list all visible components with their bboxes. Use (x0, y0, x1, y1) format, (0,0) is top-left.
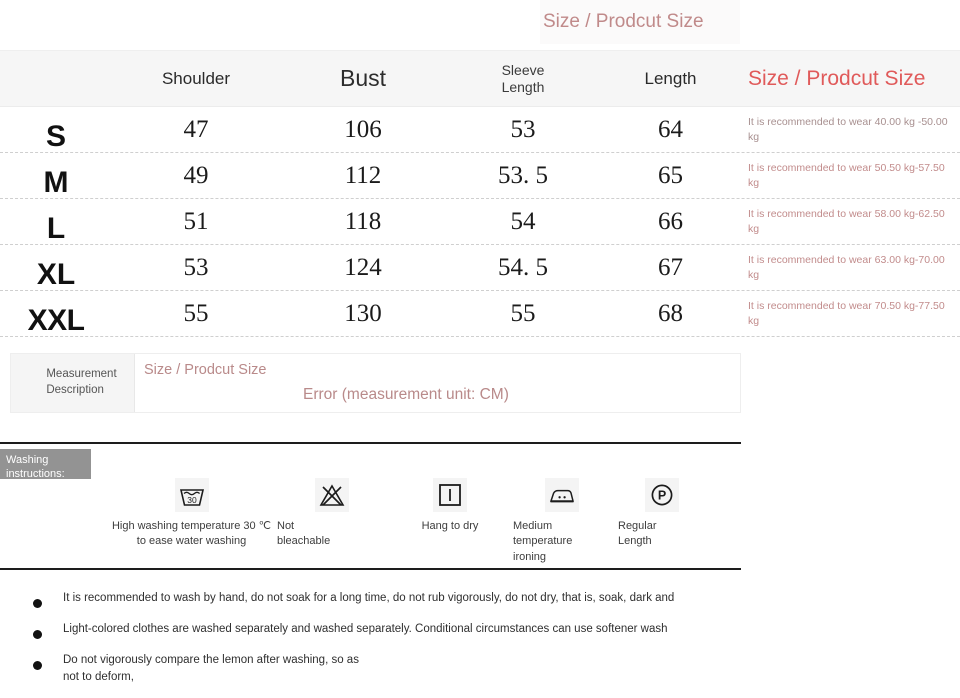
value-bust: 124 (344, 254, 382, 282)
value-length: 67 (658, 254, 683, 282)
iron-medium-temperature-icon (545, 478, 579, 512)
size-label: XL (37, 260, 75, 290)
value-shoulder: 53 (184, 254, 209, 282)
washing-notes-list: It is recommended to wash by hand, do no… (0, 590, 741, 685)
value-shoulder: 55 (184, 300, 209, 328)
value-sleeve: 54. 5 (498, 254, 548, 282)
cell-recommend: It is recommended to wear 70.50 kg-77.50… (741, 291, 960, 336)
care-symbol-strip: 30 High washing temperature 30 ℃ to ease… (110, 478, 710, 563)
measurement-error-note: Error (measurement unit: CM) (303, 386, 509, 404)
list-item: It is recommended to wash by hand, do no… (0, 590, 741, 621)
cell-shoulder: 51 (112, 199, 280, 244)
measurement-note-primary: Size / Prodcut Size (144, 362, 267, 378)
table-header-row: Shoulder Bust Sleeve Length Length Size … (0, 50, 960, 107)
no-bleach-triangle-icon (315, 478, 349, 512)
header-label-shoulder: Shoulder (162, 69, 230, 89)
value-bust: 130 (344, 300, 382, 328)
cell-shoulder: 49 (112, 153, 280, 198)
cell-size: M (0, 153, 112, 198)
header-label-bust: Bust (340, 65, 386, 92)
cell-size: XXL (0, 291, 112, 336)
recommend-text: It is recommended to wear 58.00 kg-62.50… (748, 207, 952, 236)
size-label: XXL (28, 306, 85, 336)
cell-length: 68 (600, 291, 741, 336)
cell-recommend: It is recommended to wear 40.00 kg -50.0… (741, 107, 960, 152)
svg-text:P: P (658, 489, 666, 503)
header-cell-size (0, 51, 112, 106)
value-length: 64 (658, 116, 683, 144)
washing-instructions-badge: Washing instructions: (0, 449, 91, 479)
cell-length: 66 (600, 199, 741, 244)
list-item: Do not vigorously compare the lemon afte… (0, 652, 741, 685)
table-row: XXL 55 130 55 68 It is recommended to we… (0, 291, 960, 337)
divider-above-washing (0, 442, 741, 444)
care-caption-dry: Hang to dry (391, 519, 509, 534)
header-cell-shoulder: Shoulder (112, 51, 280, 106)
care-caption-bleach: Not bleachable (273, 519, 391, 550)
bullet-dot-icon (33, 630, 42, 639)
note-text: It is recommended to wash by hand, do no… (63, 590, 674, 607)
header-label-length: Length (645, 69, 697, 89)
cell-shoulder: 53 (112, 245, 280, 290)
cell-sleeve: 53. 5 (446, 153, 600, 198)
cell-sleeve: 55 (446, 291, 600, 336)
cell-sleeve: 54 (446, 199, 600, 244)
cell-recommend: It is recommended to wear 63.00 kg-70.00… (741, 245, 960, 290)
bullet-dot-icon (33, 599, 42, 608)
cell-shoulder: 47 (112, 107, 280, 152)
care-item-iron: Medium temperature ironing (509, 478, 614, 565)
header-label-recommend: Size / Prodcut Size (748, 67, 925, 91)
cell-bust: 112 (280, 153, 446, 198)
svg-text:30: 30 (187, 495, 197, 505)
value-bust: 112 (345, 162, 382, 190)
value-sleeve: 53. 5 (498, 162, 548, 190)
cell-bust: 118 (280, 199, 446, 244)
recommend-text: It is recommended to wear 40.00 kg -50.0… (748, 115, 952, 144)
size-label: S (46, 122, 66, 152)
value-length: 68 (658, 300, 683, 328)
care-caption-wash: High washing temperature 30 ℃ to ease wa… (110, 519, 273, 550)
top-caption: Size / Prodcut Size (540, 0, 740, 44)
header-cell-bust: Bust (280, 51, 446, 106)
value-length: 66 (658, 208, 683, 236)
cell-length: 67 (600, 245, 741, 290)
header-cell-recommend: Size / Prodcut Size (741, 51, 960, 106)
value-length: 65 (658, 162, 683, 190)
measurement-description-label: Measurement Description (11, 354, 135, 412)
cell-recommend: It is recommended to wear 58.00 kg-62.50… (741, 199, 960, 244)
cell-length: 65 (600, 153, 741, 198)
measurement-description-body: Size / Prodcut Size Error (measurement u… (135, 354, 740, 412)
measurement-description-block: Measurement Description Size / Prodcut S… (10, 353, 741, 413)
value-sleeve: 55 (511, 300, 536, 328)
table-row: S 47 106 53 64 It is recommended to wear… (0, 107, 960, 153)
header-label-sleeve-length: Sleeve Length (502, 62, 545, 95)
cell-sleeve: 54. 5 (446, 245, 600, 290)
divider-below-washing (0, 568, 741, 570)
value-bust: 106 (344, 116, 382, 144)
cell-size: L (0, 199, 112, 244)
cell-bust: 124 (280, 245, 446, 290)
value-sleeve: 54 (511, 208, 536, 236)
cell-size: XL (0, 245, 112, 290)
note-text: Do not vigorously compare the lemon afte… (63, 652, 359, 685)
size-table: Shoulder Bust Sleeve Length Length Size … (0, 50, 960, 337)
table-row: L 51 118 54 66 It is recommended to wear… (0, 199, 960, 245)
recommend-text: It is recommended to wear 70.50 kg-77.50… (748, 299, 952, 328)
hang-to-dry-icon (433, 478, 467, 512)
cell-recommend: It is recommended to wear 50.50 kg-57.50… (741, 153, 960, 198)
value-shoulder: 49 (184, 162, 209, 190)
cell-sleeve: 53 (446, 107, 600, 152)
header-cell-sleeve-length: Sleeve Length (446, 51, 600, 106)
care-caption-iron: Medium temperature ironing (509, 519, 614, 565)
bullet-dot-icon (33, 661, 42, 670)
cell-bust: 106 (280, 107, 446, 152)
table-row: XL 53 124 54. 5 67 It is recommended to … (0, 245, 960, 291)
value-shoulder: 51 (184, 208, 209, 236)
size-label: L (47, 214, 65, 244)
care-item-bleach: Not bleachable (273, 478, 391, 550)
wash-tub-30-icon: 30 (175, 478, 209, 512)
header-cell-length: Length (600, 51, 741, 106)
size-label: M (44, 168, 69, 198)
note-text: Light-colored clothes are washed separat… (63, 621, 668, 638)
recommend-text: It is recommended to wear 50.50 kg-57.50… (748, 161, 952, 190)
value-sleeve: 53 (511, 116, 536, 144)
list-item: Light-colored clothes are washed separat… (0, 621, 741, 652)
care-caption-length: Regular Length (614, 519, 710, 550)
table-row: M 49 112 53. 5 65 It is recommended to w… (0, 153, 960, 199)
care-item-length: P Regular Length (614, 478, 710, 550)
care-item-dry: Hang to dry (391, 478, 509, 534)
recommend-text: It is recommended to wear 63.00 kg-70.00… (748, 253, 952, 282)
size-chart-page: Size / Prodcut Size Shoulder Bust Sleeve… (0, 0, 960, 698)
value-bust: 118 (345, 208, 382, 236)
cell-shoulder: 55 (112, 291, 280, 336)
dry-clean-p-icon: P (645, 478, 679, 512)
care-item-wash: 30 High washing temperature 30 ℃ to ease… (110, 478, 273, 550)
cell-length: 64 (600, 107, 741, 152)
cell-bust: 130 (280, 291, 446, 336)
value-shoulder: 47 (184, 116, 209, 144)
cell-size: S (0, 107, 112, 152)
